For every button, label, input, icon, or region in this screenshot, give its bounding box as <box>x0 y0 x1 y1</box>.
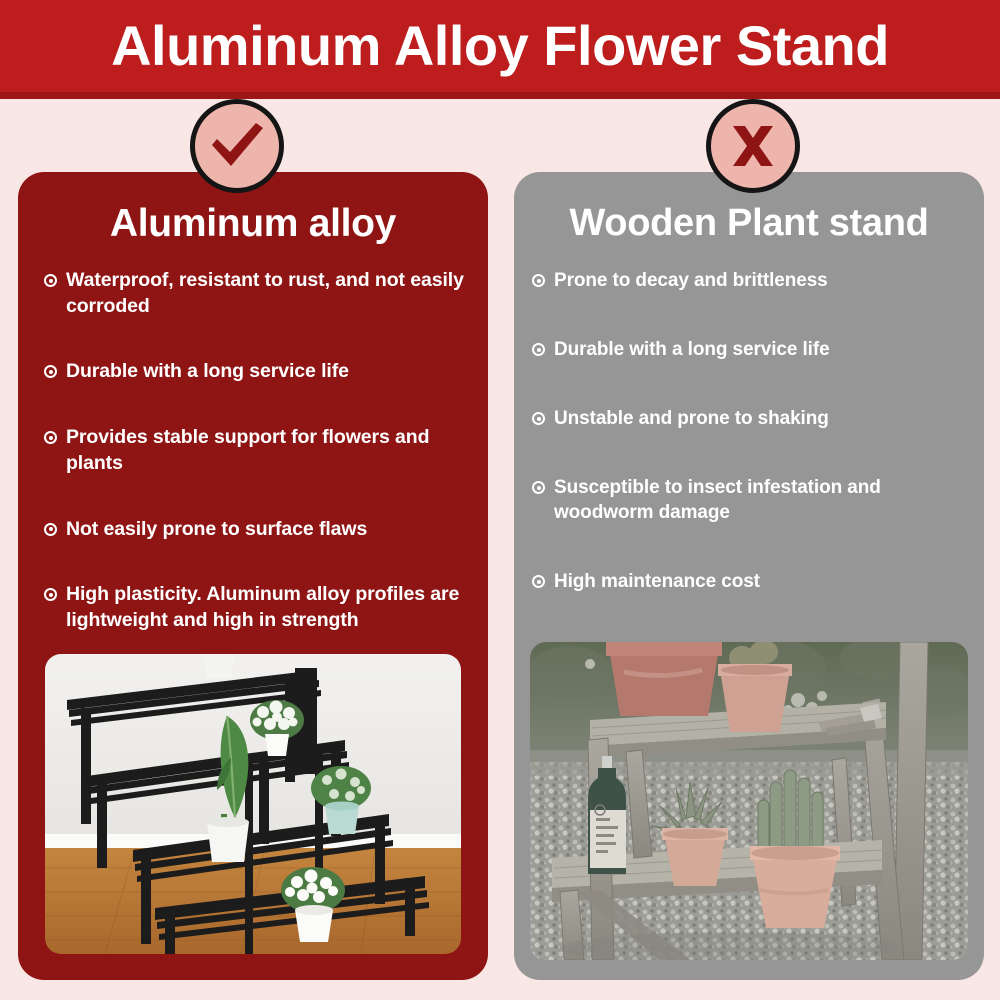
bullet-dot-icon <box>44 588 57 601</box>
checkmark-badge <box>190 99 284 193</box>
list-item: Durable with a long service life <box>532 337 974 362</box>
list-item-label: Provides stable support for flowers and … <box>66 425 464 476</box>
list-item-label: High maintenance cost <box>554 569 760 594</box>
con-panel-heading: Wooden Plant stand <box>514 204 984 244</box>
checkmark-icon <box>208 121 266 171</box>
list-item: High plasticity. Aluminum alloy profiles… <box>44 582 464 633</box>
list-item-label: Unstable and prone to shaking <box>554 406 829 431</box>
list-item-label: Susceptible to insect infestation and wo… <box>554 475 974 525</box>
bullet-dot-icon <box>44 523 57 536</box>
comparison-infographic: Aluminum Alloy Flower Stand Aluminum all… <box>0 0 1000 1000</box>
list-item-label: Not easily prone to surface flaws <box>66 517 367 543</box>
con-product-photo <box>530 642 968 960</box>
list-item: Durable with a long service life <box>44 359 464 385</box>
page-title: Aluminum Alloy Flower Stand <box>111 18 889 74</box>
bullet-dot-icon <box>44 274 57 287</box>
bullet-dot-icon <box>532 412 545 425</box>
list-item: Provides stable support for flowers and … <box>44 425 464 476</box>
bullet-dot-icon <box>532 343 545 356</box>
header-banner: Aluminum Alloy Flower Stand <box>0 0 1000 92</box>
con-bullet-list: Prone to decay and brittleness Durable w… <box>514 268 984 638</box>
bullet-dot-icon <box>532 575 545 588</box>
pro-product-photo <box>45 654 461 954</box>
pro-panel: Aluminum alloy Waterproof, resistant to … <box>18 172 488 980</box>
list-item: Prone to decay and brittleness <box>532 268 974 293</box>
list-item: Not easily prone to surface flaws <box>44 517 464 543</box>
bullet-dot-icon <box>532 481 545 494</box>
list-item-label: Waterproof, resistant to rust, and not e… <box>66 268 464 319</box>
list-item: Susceptible to insect infestation and wo… <box>532 475 974 525</box>
pro-bullet-list: Waterproof, resistant to rust, and not e… <box>18 268 488 674</box>
list-item-label: Durable with a long service life <box>554 337 830 362</box>
bullet-dot-icon <box>532 274 545 287</box>
list-item-label: Durable with a long service life <box>66 359 349 385</box>
cross-icon <box>729 122 777 170</box>
list-item: High maintenance cost <box>532 569 974 594</box>
list-item-label: Prone to decay and brittleness <box>554 268 828 293</box>
bullet-dot-icon <box>44 365 57 378</box>
bullet-dot-icon <box>44 431 57 444</box>
list-item: Unstable and prone to shaking <box>532 406 974 431</box>
list-item: Waterproof, resistant to rust, and not e… <box>44 268 464 319</box>
list-item-label: High plasticity. Aluminum alloy profiles… <box>66 582 464 633</box>
header-underline <box>0 92 1000 99</box>
con-panel: Wooden Plant stand Prone to decay and br… <box>514 172 984 980</box>
pro-panel-heading: Aluminum alloy <box>18 204 488 245</box>
cross-badge <box>706 99 800 193</box>
